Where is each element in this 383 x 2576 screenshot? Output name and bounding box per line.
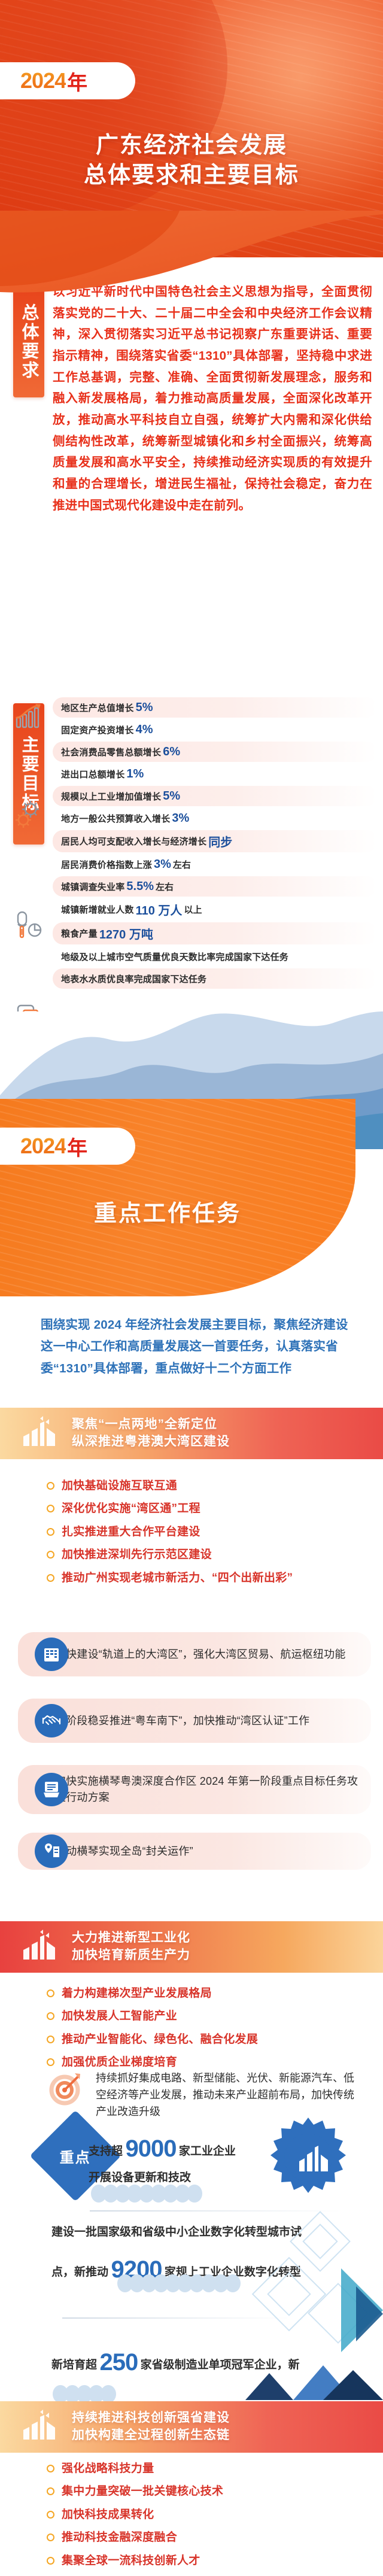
goal-item: 地方一般公共预算收入增长 3%: [53, 808, 377, 828]
document-box-icon: [35, 1773, 68, 1806]
list-item-label: 着力构建梯次型产业发展格局: [62, 1986, 212, 2001]
map-pin-icon: [35, 1834, 68, 1868]
goal-item: 规模以上工业增加值增长 5%: [53, 786, 377, 806]
goal-label: 居民消费价格指数上涨: [61, 858, 152, 871]
goal-item: 社会消费品零售总额增长 6%: [53, 742, 377, 762]
hero-banner-secondary: 2024 年 重点工作任务: [0, 1099, 383, 1296]
bullet-dot-icon: [47, 2058, 54, 2066]
list-item-label: 推动产业智能化、绿色化、融合化发展: [62, 2032, 258, 2047]
intro-paragraph: 围绕实现 2024 年经济社会发展主要目标，聚焦经济建设这一中心工作和高质量发展…: [41, 1314, 352, 1380]
year-unit: 年: [67, 1132, 87, 1161]
task-banner-2-line-2: 加快培育新质生产力: [72, 1947, 190, 1964]
goal-label: 地方一般公共预算收入增长: [61, 812, 170, 825]
list-item: 加快推进深圳先行示范区建设: [47, 1547, 373, 1562]
task-2-bullet-list: 着力构建梯次型产业发展格局 加快发展人工智能产业 推动产业智能化、绿色化、融合化…: [47, 1986, 373, 2078]
goal-value: 6%: [163, 745, 180, 759]
goal-item: 粮食产量 1270 万吨: [53, 922, 377, 944]
goal-label: 进出口总额增长: [61, 768, 124, 780]
highlight-label: 重点: [60, 2146, 91, 2167]
year-badge: 2024 年: [0, 62, 135, 99]
hero-bottom-shape: [0, 211, 383, 306]
factory-icon: [0, 1416, 72, 1451]
year-unit: 年: [67, 66, 87, 96]
highlight-number: 9000: [125, 2135, 176, 2162]
goal-item: 地表水水质优良率完成国家下达任务: [53, 968, 377, 989]
goal-item: 居民消费价格指数上涨 3% 左右: [53, 854, 377, 874]
goal-value: 1270 万吨: [99, 925, 153, 942]
task-banner-2: 大力推进新型工业化 加快培育新质生产力: [0, 1921, 383, 1973]
bullet-dot-icon: [47, 2012, 54, 2020]
goal-suffix: 左右: [173, 858, 191, 871]
goal-label: 社会消费品零售总额增长: [61, 746, 161, 758]
task-1-card-3: 加快实施横琴粤澳深度合作区 2024 年第一阶段重点目标任务攻坚行动方案: [18, 1765, 371, 1814]
goal-item: 进出口总额增长 1%: [53, 764, 377, 784]
goal-label: 居民人均可支配收入增长与经济增长: [61, 835, 206, 847]
list-item: 推动产业智能化、绿色化、融合化发展: [47, 2032, 373, 2047]
stat-250-prefix: 新培育超: [51, 2359, 97, 2371]
list-item: 加快发展人工智能产业: [47, 2009, 373, 2024]
list-item: 加快基础设施互联互通: [47, 1478, 373, 1493]
year-badge-secondary: 2024 年: [0, 1128, 135, 1165]
bar-chart-growth-icon: [10, 698, 45, 734]
task-1-bullet-list: 加快基础设施互联互通 深化优化实施“湾区通”工程 扎实推进重大合作平台建设 加快…: [47, 1478, 373, 1593]
goal-value: 5%: [136, 701, 153, 715]
divider-line: [62, 2317, 290, 2319]
task-1-card-1-text: 加快建设“轨道上的大湾区”，强化大湾区贸易、航运枢纽功能: [55, 1647, 346, 1663]
goal-label: 城镇调查失业率: [61, 880, 124, 893]
bullet-dot-icon: [47, 1574, 54, 1582]
task-1-card-2: 分阶段稳妥推进“粤车南下”，加快推动“湾区认证”工作: [18, 1699, 371, 1743]
goal-label: 地表水水质优良率完成国家下达任务: [61, 973, 206, 985]
section-main-goals: 主要目标: [0, 697, 383, 991]
task-1-card-4-text: 推动横琴实现全岛“封关运作”: [55, 1843, 193, 1860]
goal-item: 城镇调查失业率 5.5% 左右: [53, 876, 377, 897]
list-item: 集中力量突破一批关键核心技术: [47, 2484, 373, 2499]
list-item-label: 集中力量突破一批关键核心技术: [62, 2484, 223, 2499]
task-banner-3-text: 持续推进科技创新强省建设 加快构建全过程创新生态链: [72, 2410, 230, 2444]
list-item-label: 集聚全球一流科技创新人才: [62, 2553, 200, 2568]
list-item: 深化优化实施“湾区通”工程: [47, 1501, 373, 1516]
building-icon: [35, 1638, 68, 1671]
bullet-dot-icon: [47, 2557, 54, 2565]
goal-suffix: 以上: [184, 903, 202, 916]
list-item: 扎实推进重大合作平台建设: [47, 1524, 373, 1539]
bullet-dot-icon: [47, 1528, 54, 1536]
divider-line: [90, 2210, 341, 2212]
bullet-dot-icon: [47, 1505, 54, 1512]
handshake-icon: [35, 1704, 68, 1737]
year-number: 2024: [20, 1134, 66, 1159]
year-number: 2024: [20, 68, 66, 93]
gear-factory-icon: [263, 2113, 353, 2206]
goal-label: 城镇新增就业人数: [61, 903, 134, 916]
goal-value: 3%: [154, 858, 171, 871]
goal-value: 4%: [136, 723, 153, 737]
goal-item: 固定资产投资增长 4%: [53, 719, 377, 740]
task-banner-3-line-2: 加快构建全过程创新生态链: [72, 2427, 230, 2444]
goal-suffix: 左右: [156, 880, 174, 893]
page-title-line-2: 总体要求和主要目标: [0, 160, 383, 190]
bullet-dot-icon: [47, 2036, 54, 2043]
list-item: 加强优质企业梯度培育: [47, 2055, 373, 2070]
highlight-prefix: 支持超: [89, 2145, 123, 2158]
task-banner-1-text: 聚焦“一点两地”全新定位 纵深推进粤港澳大湾区建设: [72, 1416, 230, 1451]
list-item-label: 推动广州实现老城市新活力、“四个出新出彩”: [62, 1570, 293, 1585]
task-banner-3-line-1: 持续推进科技创新强省建设: [72, 2410, 230, 2427]
stat-250-number: 250: [99, 2349, 138, 2375]
bullet-dot-icon: [47, 1551, 54, 1559]
goal-item: 城镇新增就业人数 110 万人 以上: [53, 898, 377, 921]
list-item-label: 加快推进深圳先行示范区建设: [62, 1547, 212, 1562]
list-item-label: 加快科技成果转化: [62, 2507, 154, 2522]
factory-icon: [0, 1930, 72, 1964]
goal-label: 地级及以上城市空气质量优良天数比率完成国家下达任务: [61, 950, 288, 963]
bullet-dot-icon: [47, 2465, 54, 2472]
task-banner-2-line-1: 大力推进新型工业化: [72, 1930, 190, 1947]
list-item: 推动广州实现老城市新活力、“四个出新出彩”: [47, 1570, 373, 1585]
task-1-card-1: 加快建设“轨道上的大湾区”，强化大湾区贸易、航运枢纽功能: [18, 1632, 371, 1676]
goal-value: 110 万人: [136, 901, 183, 918]
list-item-label: 加强优质企业梯度培育: [62, 2055, 177, 2070]
list-item-label: 加快基础设施互联互通: [62, 1478, 177, 1493]
factory-icon: [0, 2410, 72, 2444]
goal-item: 地级及以上城市空气质量优良天数比率完成国家下达任务: [53, 946, 377, 967]
list-item: 强化战略科技力量: [47, 2461, 373, 2476]
task-banner-1: 聚焦“一点两地”全新定位 纵深推进粤港澳大湾区建设: [0, 1408, 383, 1459]
task-banner-2-text: 大力推进新型工业化 加快培育新质生产力: [72, 1930, 190, 1964]
dots-decoration: [53, 2385, 113, 2403]
highlight-suffix: 家工业企业: [179, 2145, 236, 2158]
task-3-bullet-list: 强化战略科技力量 集中力量突破一批关键核心技术 加快科技成果转化 推动科技金融深…: [47, 2461, 373, 2576]
goal-item: 居民人均可支配收入增长与经济增长 同步: [53, 830, 377, 852]
goal-label: 粮食产量: [61, 927, 98, 940]
target-icon: [47, 2071, 89, 2113]
goal-label: 固定资产投资增长: [61, 724, 134, 736]
task-banner-1-line-2: 纵深推进粤港澳大湾区建设: [72, 1433, 230, 1451]
person-chart-icon: [10, 907, 45, 943]
list-item-label: 扎实推进重大合作平台建设: [62, 1524, 200, 1539]
list-item-label: 深化优化实施“湾区通”工程: [62, 1501, 200, 1516]
task-1-card-3-text: 加快实施横琴粤澳深度合作区 2024 年第一阶段重点目标任务攻坚行动方案: [55, 1773, 361, 1806]
main-goals-list: 地区生产总值增长 5% 固定资产投资增长 4% 社会消费品零售总额增长 6% 进…: [53, 697, 377, 989]
goal-value: 同步: [208, 833, 232, 850]
task-banner-1-line-1: 聚焦“一点两地”全新定位: [72, 1416, 230, 1433]
bullet-dot-icon: [47, 1482, 54, 1490]
goal-value: 3%: [172, 812, 189, 825]
list-item-label: 强化战略科技力量: [62, 2461, 154, 2476]
goal-value: 5%: [163, 789, 180, 803]
section-overall-requirement: 总体要求 以习近平新时代中国特色社会主义思想为指导，全面贯彻落实党的二十大、二十…: [0, 281, 383, 516]
list-item: 集聚全球一流科技创新人才: [47, 2553, 373, 2568]
bullet-dot-icon: [47, 2487, 54, 2495]
list-item: 推动科技金融深度融合: [47, 2530, 373, 2545]
bullet-dot-icon: [47, 1989, 54, 1997]
section-title-key-tasks: 重点工作任务: [0, 1195, 335, 1228]
dots-decoration: [117, 2274, 237, 2292]
highlight-statement: 支持超 9000 家工业企业 开展设备更新和技改: [89, 2135, 268, 2185]
goal-value: 1%: [126, 767, 144, 781]
task-1-card-2-text: 分阶段稳妥推进“粤车南下”，加快推动“湾区认证”工作: [55, 1713, 309, 1729]
goal-item: 地区生产总值增长 5%: [53, 697, 377, 718]
task-banner-3: 持续推进科技创新强省建设 加快构建全过程创新生态链: [0, 2401, 383, 2453]
list-item-label: 加快发展人工智能产业: [62, 2009, 177, 2024]
overall-requirement-text: 以习近平新时代中国特色社会主义思想为指导，全面贯彻落实党的二十大、二十届二中全会…: [53, 281, 372, 516]
goal-label: 地区生产总值增长: [61, 701, 134, 714]
goal-label: 规模以上工业增加值增长: [61, 790, 161, 803]
goal-value: 5.5%: [126, 880, 154, 894]
bullet-dot-icon: [47, 2511, 54, 2519]
highlight-second-line: 开展设备更新和技改: [89, 2168, 268, 2185]
bullet-dot-icon: [47, 2534, 54, 2541]
list-item-label: 推动科技金融深度融合: [62, 2530, 177, 2545]
dots-decoration: [91, 2185, 199, 2203]
page-title: 广东经济社会发展 总体要求和主要目标: [0, 130, 383, 190]
task-1-card-4: 推动横琴实现全岛“封关运作”: [18, 1833, 371, 1870]
gear-icon: [10, 797, 45, 833]
list-item: 着力构建梯次型产业发展格局: [47, 1986, 373, 2001]
page-title-line-1: 广东经济社会发展: [0, 130, 383, 160]
list-item: 加快科技成果转化: [47, 2507, 373, 2522]
